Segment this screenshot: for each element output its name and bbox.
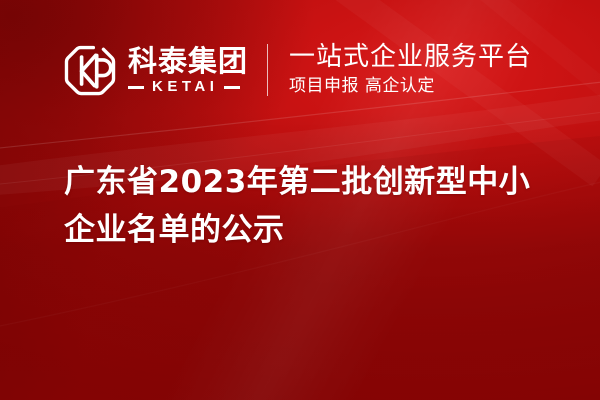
logo-dash-right-icon [224,86,240,89]
logo-english-name-row: KETAI [128,79,248,95]
page-title: 广东省2023年第二批创新型中小企业名单的公示 [64,158,534,254]
brand-header: 科泰集团 KETAI 一站式企业服务平台 项目申报 高企认定 [0,0,600,140]
tagline-primary: 一站式企业服务平台 [289,42,532,73]
logo-chinese-name: 科泰集团 [128,45,248,77]
banner-image: 科泰集团 KETAI 一站式企业服务平台 项目申报 高企认定 广东省2023年第… [0,0,600,400]
tagline-block: 一站式企业服务平台 项目申报 高企认定 [289,40,532,100]
header-divider [267,44,268,96]
logo-dash-left-icon [128,86,144,89]
logo-lockup[interactable]: 科泰集团 KETAI [62,39,248,101]
ketai-diamond-monogram-icon [62,42,118,98]
logo-wordmark: 科泰集团 KETAI [128,41,248,99]
logo-english-name: KETAI [144,79,224,95]
tagline-secondary: 项目申报 高企认定 [289,74,532,98]
